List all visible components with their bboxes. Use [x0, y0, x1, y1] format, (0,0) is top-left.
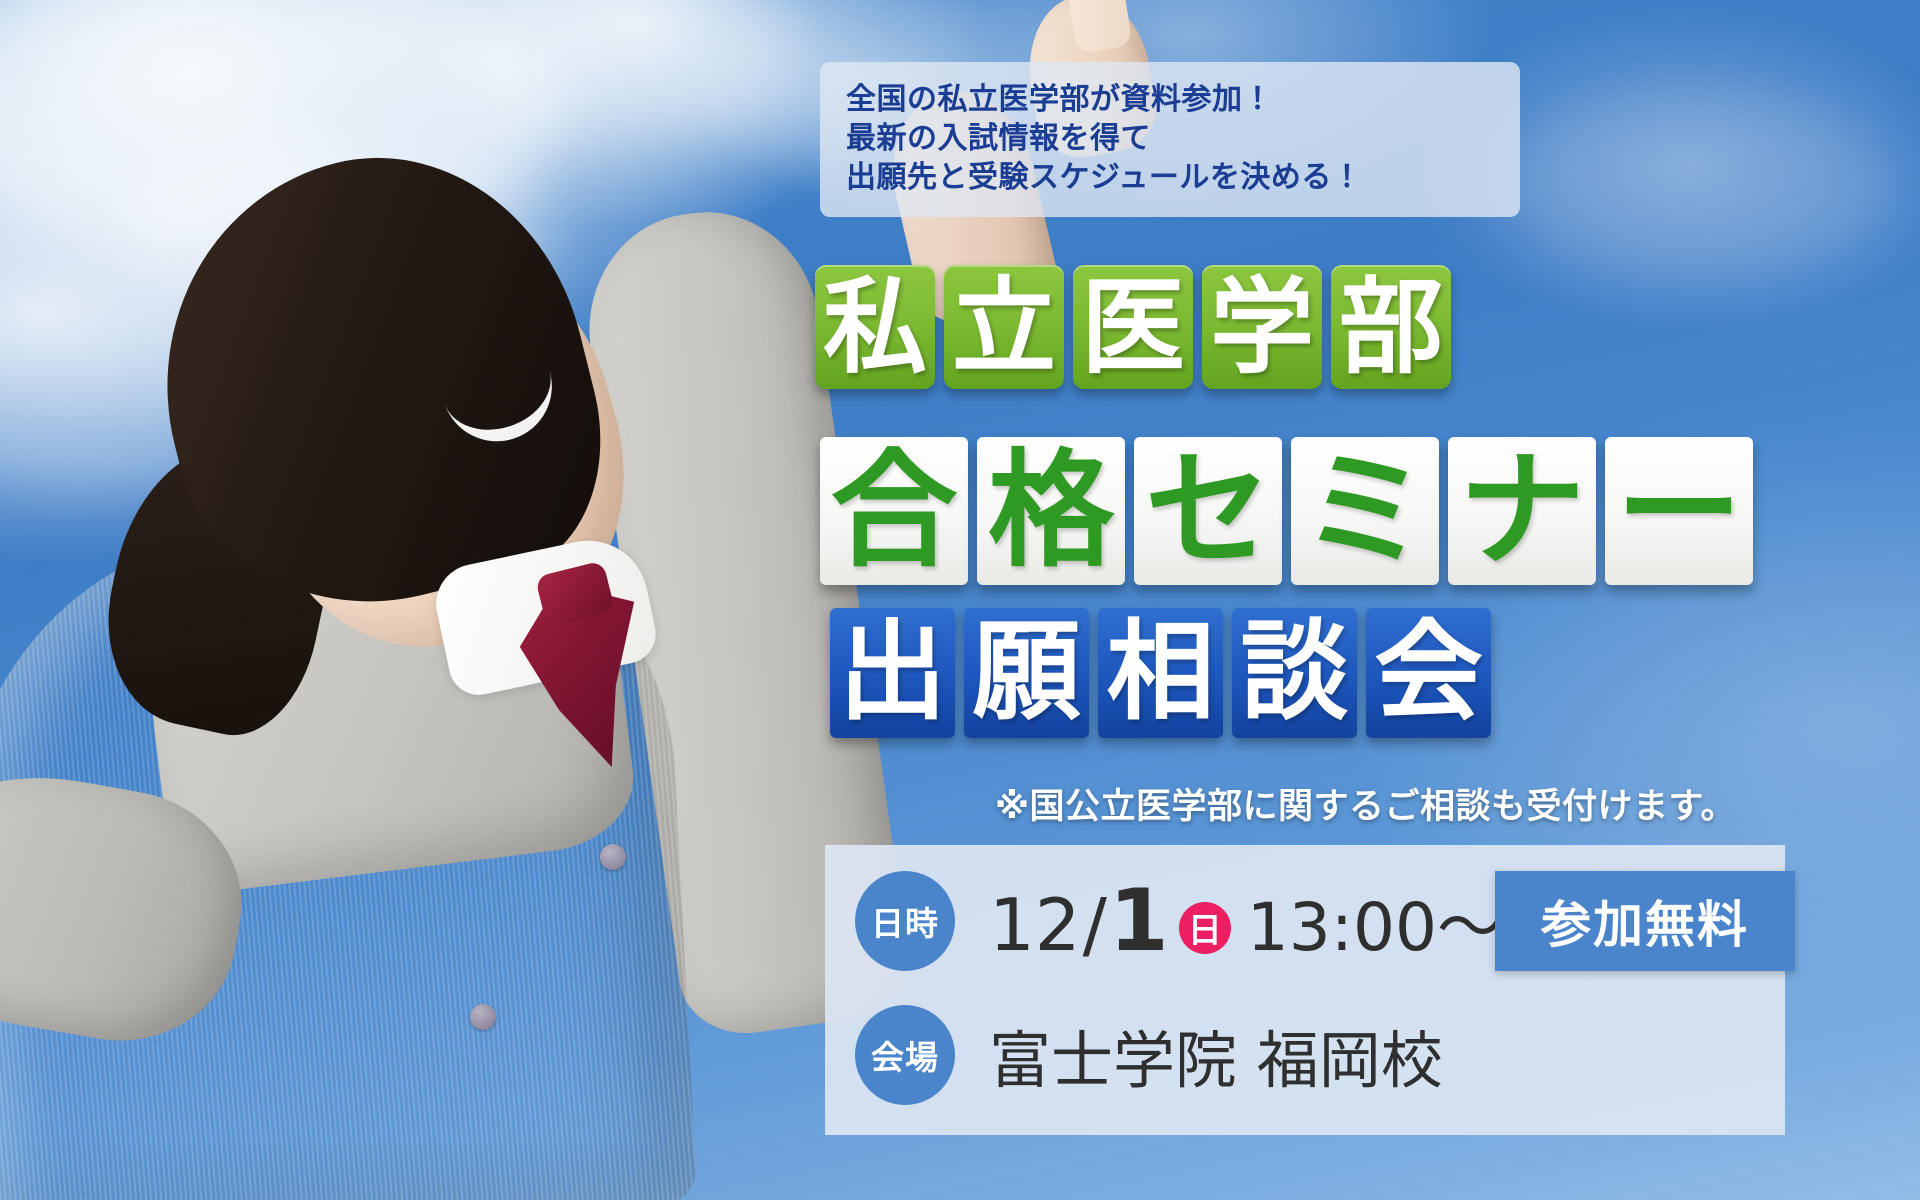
title-tile: ナ [1448, 437, 1596, 585]
title-tile: 出 [830, 608, 955, 738]
title-tile: 医 [1073, 265, 1193, 389]
title-tile: 立 [944, 265, 1064, 389]
event-date-value: 12 / 1 日 13:00〜 [989, 878, 1503, 964]
event-venue-value: 富士学院 福岡校 [989, 1010, 1443, 1100]
event-venue-row: 会場 富士学院 福岡校 [855, 1005, 1443, 1105]
title-tile: 会 [1366, 608, 1491, 738]
title-tile: ー [1605, 437, 1753, 585]
title-tile: 談 [1232, 608, 1357, 738]
event-info-panel: 日時 12 / 1 日 13:00〜 会場 富士学院 福岡校 参加無料 [825, 845, 1785, 1135]
disclaimer-note: ※国公立医学部に関するご相談も受付けます。 [995, 778, 1736, 829]
content-overlay: 全国の私立医学部が資料参加！ 最新の入試情報を得て 出願先と受験スケジュールを決… [0, 0, 1920, 1200]
lead-line-1: 全国の私立医学部が資料参加！ [846, 80, 1494, 119]
date-separator: / [1083, 889, 1107, 961]
title-row-application-consultation: 出 願 相 談 会 [830, 608, 1491, 738]
promo-banner: 全国の私立医学部が資料参加！ 最新の入試情報を得て 出願先と受験スケジュールを決… [0, 0, 1920, 1200]
date-day: 1 [1109, 878, 1169, 964]
event-date-row: 日時 12 / 1 日 13:00〜 [855, 871, 1503, 971]
lead-copy-panel: 全国の私立医学部が資料参加！ 最新の入試情報を得て 出願先と受験スケジュールを決… [820, 62, 1520, 217]
title-tile: 私 [815, 265, 935, 389]
lead-line-3: 出願先と受験スケジュールを決める！ [846, 158, 1494, 197]
date-month: 12 [989, 889, 1081, 961]
free-participation-button[interactable]: 参加無料 [1495, 871, 1795, 971]
date-badge: 日時 [855, 871, 955, 971]
day-of-week-badge: 日 [1179, 902, 1231, 954]
lead-line-2: 最新の入試情報を得て [846, 119, 1494, 158]
title-tile: 願 [964, 608, 1089, 738]
title-row-private-medical: 私 立 医 学 部 [815, 265, 1451, 389]
title-tile: 格 [977, 437, 1125, 585]
title-tile: 合 [820, 437, 968, 585]
venue-badge: 会場 [855, 1005, 955, 1105]
title-tile: ミ [1291, 437, 1439, 585]
title-tile: セ [1134, 437, 1282, 585]
title-tile: 学 [1202, 265, 1322, 389]
title-row-seminar: 合 格 セ ミ ナ ー [820, 437, 1753, 585]
event-time: 13:00〜 [1247, 895, 1503, 961]
title-tile: 部 [1331, 265, 1451, 389]
title-tile: 相 [1098, 608, 1223, 738]
